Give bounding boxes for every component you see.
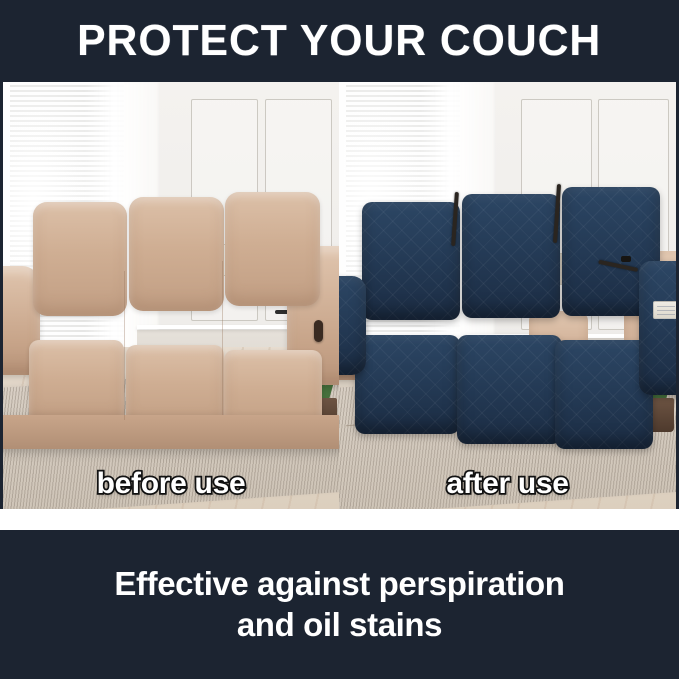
after-photo: after use: [339, 82, 676, 509]
cover-left-arm: [339, 276, 366, 375]
strap-buckle: [621, 256, 631, 262]
sofa-seam: [124, 271, 125, 420]
reclining-sofa-beige: [3, 202, 339, 450]
sofa-seat-cushion: [29, 340, 123, 424]
footer-headline-line-2: and oil stains: [237, 605, 442, 645]
headline-bar: PROTECT YOUR COUCH: [0, 0, 679, 82]
sofa-back-cushion: [129, 197, 223, 311]
recliner-handle[interactable]: [314, 320, 323, 342]
sofa-back-cushion: [33, 202, 127, 316]
page-title: PROTECT YOUR COUCH: [77, 19, 601, 63]
reclining-sofa-covered: [339, 202, 676, 450]
cover-seat-panel: [457, 335, 563, 444]
cover-back-panel: [362, 202, 460, 321]
pocket-texture: [657, 305, 675, 315]
cover-right-arm: [639, 261, 676, 395]
before-photo: before use: [3, 82, 339, 509]
before-caption: before use: [3, 467, 339, 501]
sofa-seam: [222, 261, 223, 415]
sofa-base: [3, 415, 339, 450]
cover-seat-panel: [355, 335, 461, 434]
side-storage-pocket[interactable]: [653, 301, 676, 319]
footer-headline-line-1: Effective against perspiration: [114, 564, 564, 604]
section-divider: [0, 509, 679, 530]
cover-back-panel: [462, 194, 560, 318]
after-caption: after use: [339, 467, 676, 501]
product-marketing-poster: PROTECT YOUR COUCH: [0, 0, 679, 679]
sofa-back-cushion: [225, 192, 319, 306]
footer-bar: Effective against perspiration and oil s…: [0, 530, 679, 679]
before-after-comparison: before use: [3, 82, 676, 509]
